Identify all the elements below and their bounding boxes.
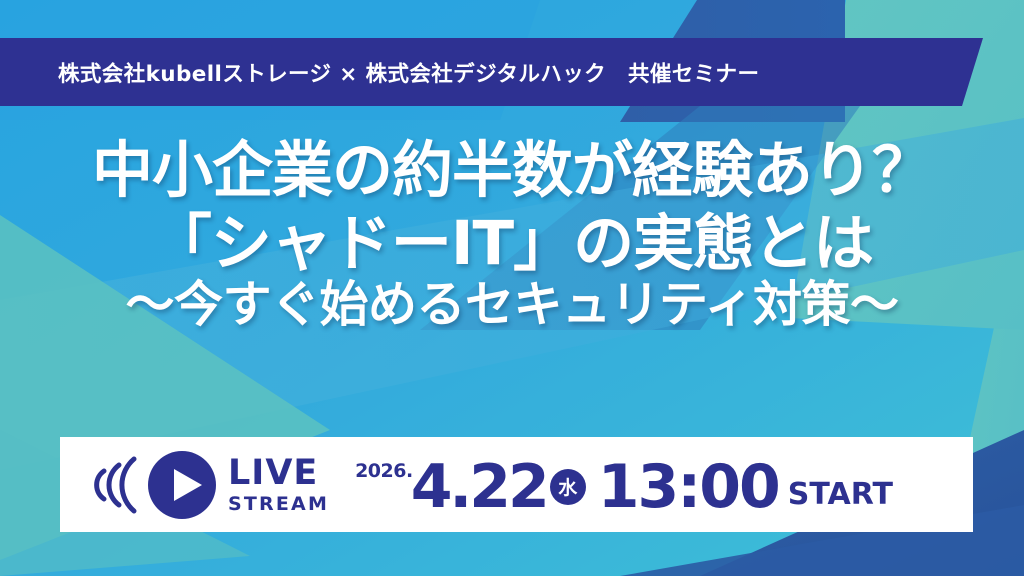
sound-wave-icon xyxy=(88,450,144,520)
live-stream-wordmark: LIVE STREAM xyxy=(228,456,329,514)
time-label: 13:00 xyxy=(598,457,779,517)
live-stream-badge: LIVE STREAM xyxy=(88,449,329,521)
seminar-banner: 株式会社kubellストレージ × 株式会社デジタルハック 共催セミナー 中小企… xyxy=(0,0,1024,576)
title-line-3: 〜今すぐ始めるセキュリティ対策〜 xyxy=(0,280,1024,329)
start-label: START xyxy=(788,477,893,512)
title-line-2: 「シャドーIT」の実態とは xyxy=(0,213,1024,274)
title-block: 中小企業の約半数が経験あり？ 「シャドーIT」の実態とは 〜今すぐ始めるセキュリ… xyxy=(0,140,1024,329)
event-datetime: 2026. 4.22 水 13:00 START xyxy=(355,457,893,513)
event-info-bar: LIVE STREAM 2026. 4.22 水 13:00 START xyxy=(60,437,973,532)
title-line-1: 中小企業の約半数が経験あり？ xyxy=(0,140,1024,201)
header-title: 株式会社kubellストレージ × 株式会社デジタルハック 共催セミナー xyxy=(58,38,938,106)
year-label: 2026. xyxy=(355,462,413,481)
stream-label: STREAM xyxy=(228,495,329,514)
header-title-text: 株式会社kubellストレージ × 株式会社デジタルハック 共催セミナー xyxy=(58,57,759,88)
day-of-week-badge: 水 xyxy=(550,469,586,505)
live-label: LIVE xyxy=(228,456,329,491)
play-circle-icon xyxy=(146,449,218,521)
date-label: 4.22 xyxy=(411,457,547,517)
